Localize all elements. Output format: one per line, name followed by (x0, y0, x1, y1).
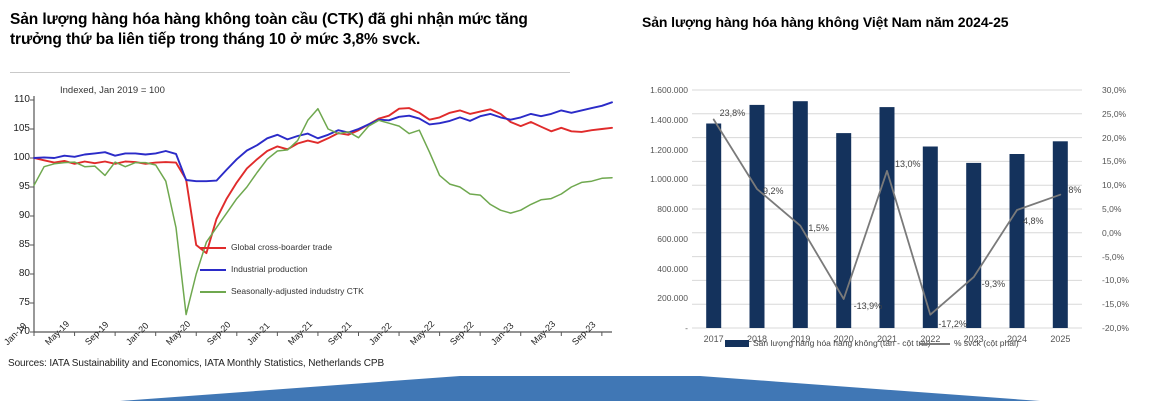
left-chart-source: Sources: IATA Sustainability and Economi… (8, 358, 384, 369)
legend-bar-swatch (725, 340, 749, 347)
left-chart-note: Indexed, Jan 2019 = 100 (60, 85, 165, 96)
legend-color-swatch (200, 269, 226, 272)
right-y-tick-left: 400.000 (620, 264, 688, 274)
right-y-tick-left: 1.600.000 (620, 85, 688, 95)
right-y-tick-right: 20,0% (1102, 133, 1154, 143)
right-y-tick-right: 0,0% (1102, 228, 1154, 238)
left-y-tick: 80 (4, 268, 30, 279)
right-legend-item: % svck (cột phải) (920, 338, 1019, 348)
left-chart-title: Sản lượng hàng hóa hàng không toàn cầu (… (10, 10, 570, 50)
right-data-label: 8% (1068, 185, 1081, 195)
left-y-tick: 85 (4, 239, 30, 250)
right-y-tick-left: 1.000.000 (620, 174, 688, 184)
right-data-label: 1,5% (808, 223, 829, 233)
right-y-tick-right: -10,0% (1102, 275, 1154, 285)
right-y-tick-left: 1.200.000 (620, 145, 688, 155)
right-y-tick-left: 800.000 (620, 204, 688, 214)
right-chart-panel: Sản lượng hàng hóa hàng không Việt Nam n… (620, 0, 1154, 401)
right-y-tick-left: 200.000 (620, 293, 688, 303)
vietnam-air-cargo-chart: -200.000400.000600.000800.0001.000.0001.… (620, 62, 1154, 352)
legend-color-swatch (200, 247, 226, 250)
legend-label: Sản lượng hàng hóa hàng không (tấn - cột… (753, 338, 931, 348)
right-y-tick-right: -20,0% (1102, 323, 1154, 333)
left-y-tick: 75 (4, 297, 30, 308)
left-legend-item: Global cross-boarder trade (200, 242, 332, 252)
right-data-label: 13,0% (895, 159, 921, 169)
left-y-tick: 105 (4, 123, 30, 134)
right-data-label: 4,8% (1023, 216, 1044, 226)
legend-color-swatch (200, 291, 226, 294)
right-legend-item: Sản lượng hàng hóa hàng không (tấn - cột… (725, 338, 931, 348)
left-chart-panel: Sản lượng hàng hóa hàng không toàn cầu (… (0, 0, 620, 401)
right-chart-plot (620, 62, 1154, 352)
right-data-label: -9,3% (982, 279, 1006, 289)
legend-label: Seasonally-adjusted indudstry CTK (231, 286, 364, 296)
right-data-label: 23,8% (720, 108, 746, 118)
right-y-tick-right: -15,0% (1102, 299, 1154, 309)
right-y-tick-right: 10,0% (1102, 180, 1154, 190)
legend-label: Industrial production (231, 264, 308, 274)
right-y-tick-left: 600.000 (620, 234, 688, 244)
right-data-label: 9,2% (763, 186, 784, 196)
left-y-tick: 90 (4, 210, 30, 221)
right-data-label: -13,9% (854, 301, 883, 311)
right-y-tick-right: 25,0% (1102, 109, 1154, 119)
right-data-label: -17,2% (938, 319, 967, 329)
right-y-tick-right: -5,0% (1102, 252, 1154, 262)
left-y-tick: 110 (4, 94, 30, 105)
legend-line-swatch (920, 343, 950, 345)
left-y-tick: 95 (4, 181, 30, 192)
right-y-tick-right: 5,0% (1102, 204, 1154, 214)
right-x-tick: 2017 (704, 334, 724, 344)
right-x-tick: 2025 (1050, 334, 1070, 344)
left-y-axis: 707580859095100105110 (0, 82, 30, 314)
legend-label: % svck (cột phải) (954, 338, 1019, 348)
right-y-tick-left: - (620, 323, 688, 333)
right-y-tick-left: 1.400.000 (620, 115, 688, 125)
right-chart-title: Sản lượng hàng hóa hàng không Việt Nam n… (642, 14, 1142, 30)
global-ctk-index-chart: Indexed, Jan 2019 = 100 7075808590951001… (0, 82, 620, 367)
right-y-tick-right: 30,0% (1102, 85, 1154, 95)
title-divider (10, 72, 570, 73)
footer-wedge-decoration (0, 371, 1154, 401)
left-legend-item: Seasonally-adjusted indudstry CTK (200, 286, 364, 296)
left-y-tick: 100 (4, 152, 30, 163)
legend-label: Global cross-boarder trade (231, 242, 332, 252)
left-legend-item: Industrial production (200, 264, 308, 274)
right-y-tick-right: 15,0% (1102, 156, 1154, 166)
